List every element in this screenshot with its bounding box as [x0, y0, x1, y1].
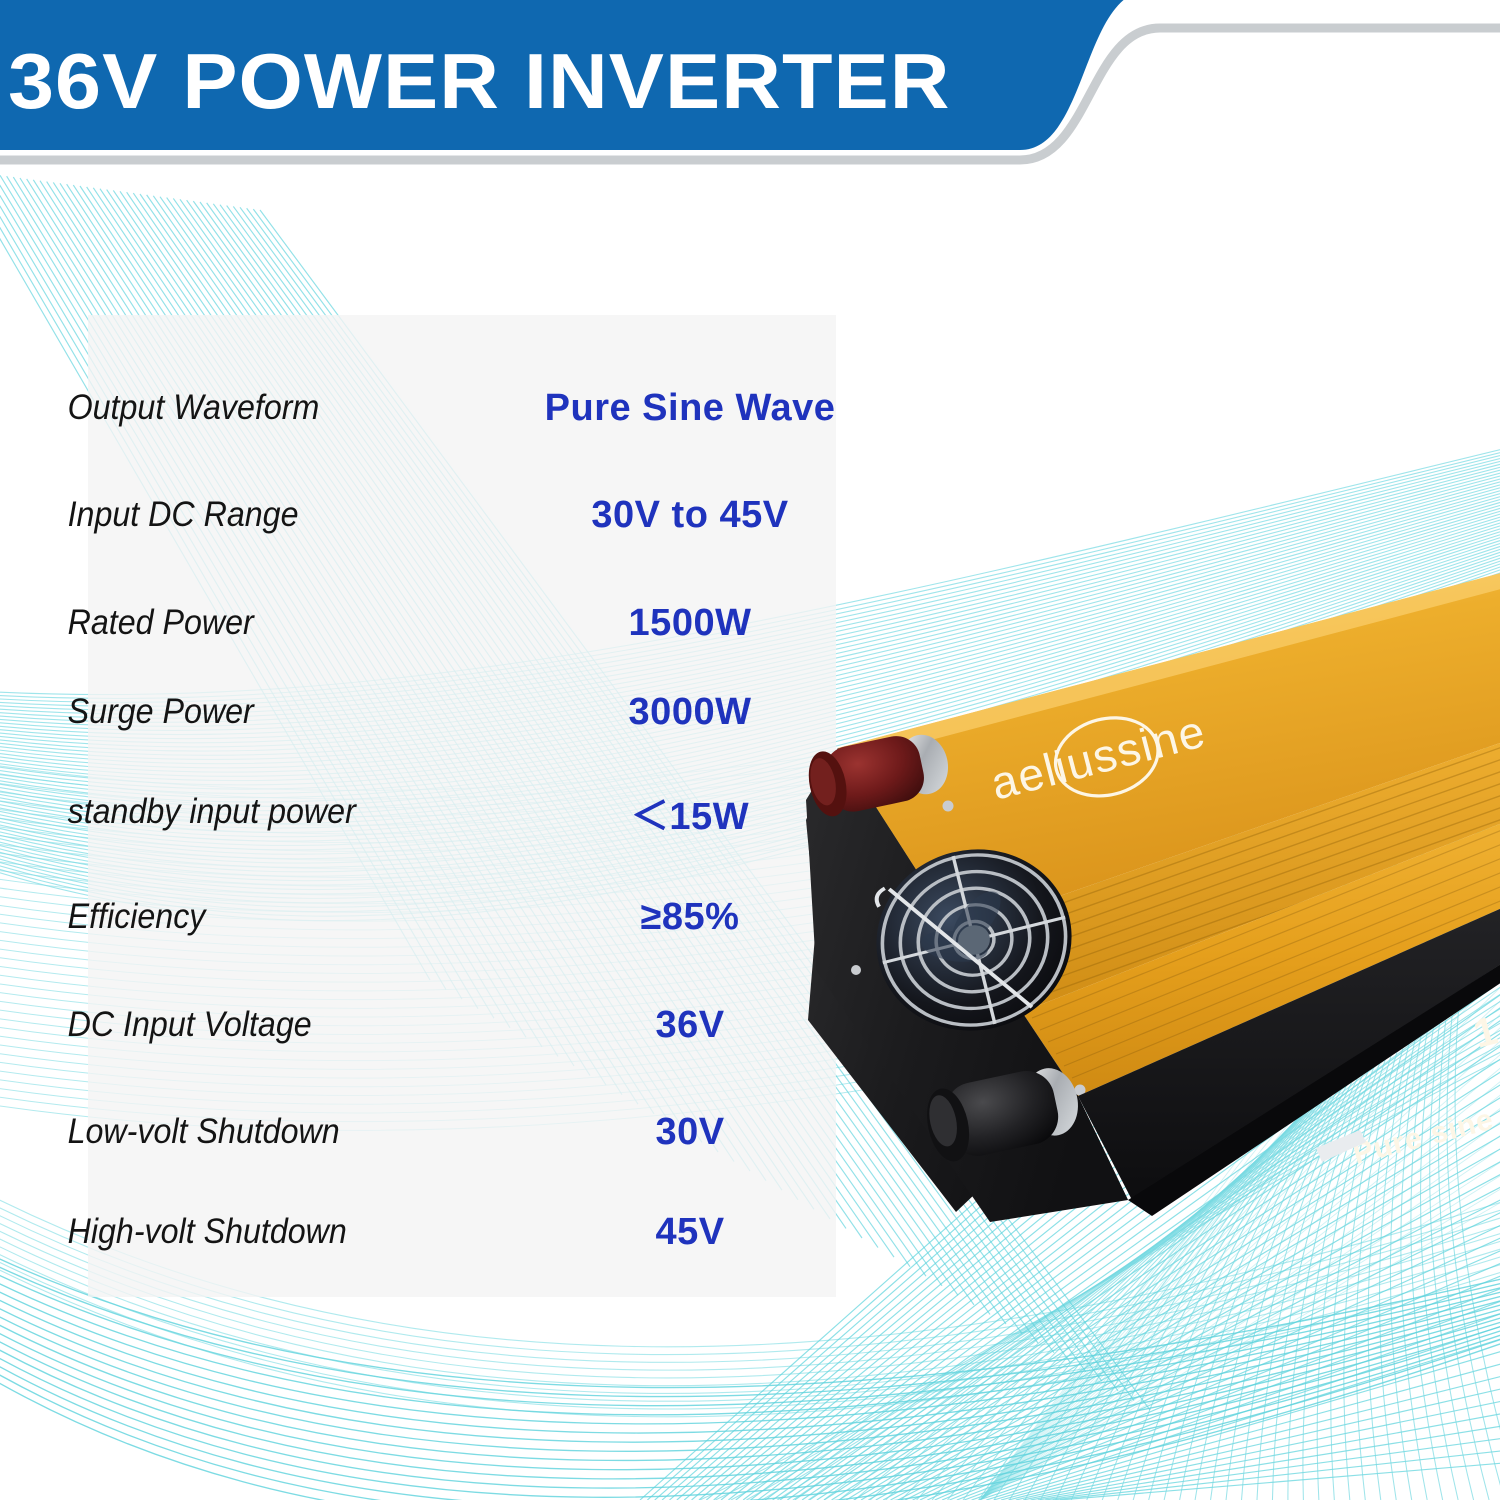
table-row: standby input power ＜15W: [40, 782, 870, 842]
spec-label: Input DC Range: [40, 495, 472, 535]
table-row: DC Input Voltage 36V: [40, 995, 870, 1055]
spec-label: High-volt Shutdown: [40, 1212, 472, 1252]
spec-label: Output Waveform: [40, 388, 472, 428]
spec-label: Efficiency: [40, 897, 472, 937]
spec-label: DC Input Voltage: [40, 1005, 472, 1045]
page-title: 36V POWER INVERTER: [8, 36, 951, 127]
spec-value: ≥85%: [510, 896, 870, 939]
table-row: High-volt Shutdown 45V: [40, 1202, 870, 1262]
table-row: Low-volt Shutdown 30V: [40, 1102, 870, 1162]
spec-label: Rated Power: [40, 603, 472, 643]
spec-label: Surge Power: [40, 692, 472, 732]
spec-value: 30V: [510, 1111, 870, 1154]
spec-value: 45V: [510, 1211, 870, 1254]
spec-value: ＜15W: [510, 785, 870, 840]
table-row: Rated Power 1500W: [40, 593, 870, 653]
header-banner: 36V POWER INVERTER: [0, 0, 1500, 190]
spec-value: 1500W: [510, 602, 870, 645]
spec-label: standby input power: [40, 792, 472, 832]
spec-value: 30V to 45V: [510, 494, 870, 537]
power-badge: 1: [1469, 1009, 1500, 1057]
spec-value: 3000W: [510, 691, 870, 734]
spec-value: 36V: [510, 1004, 870, 1047]
product-image: aeliussine Pure sine 1: [760, 500, 1500, 1260]
specification-table: Output Waveform Pure Sine Wave Input DC …: [40, 330, 870, 1290]
power-badge-text: 1: [1469, 1009, 1500, 1057]
spec-value: Pure Sine Wave: [510, 387, 870, 430]
product-tagline: Pure sine: [1349, 1103, 1497, 1171]
spec-label: Low-volt Shutdown: [40, 1112, 472, 1152]
table-row: Efficiency ≥85%: [40, 887, 870, 947]
product-infographic: 36V POWER INVERTER Output Waveform Pure …: [0, 0, 1500, 1500]
tagline-text: Pure sine: [1349, 1103, 1497, 1171]
table-row: Surge Power 3000W: [40, 682, 870, 742]
table-row: Output Waveform Pure Sine Wave: [40, 378, 870, 438]
table-row: Input DC Range 30V to 45V: [40, 485, 870, 545]
